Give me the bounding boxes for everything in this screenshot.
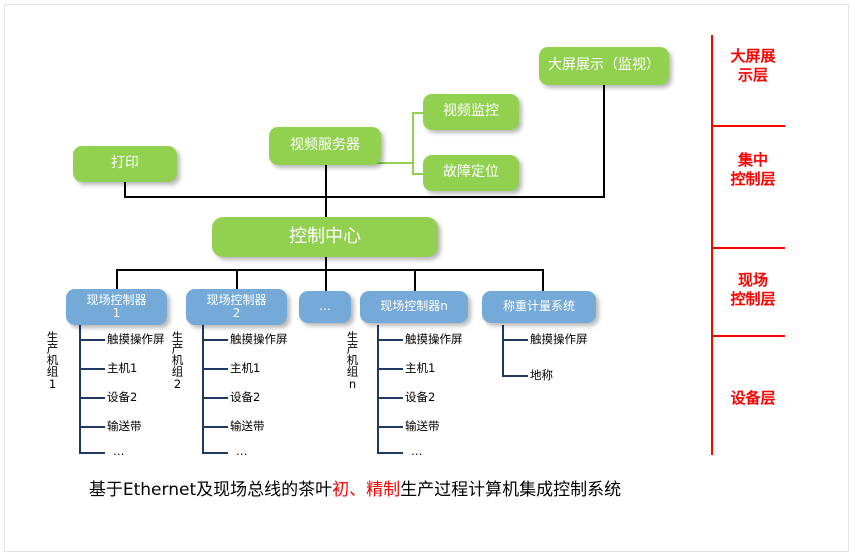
group-2-item-1: 主机1 — [230, 363, 260, 375]
group-n-item-0: 触摸操作屏 — [405, 334, 463, 346]
group-2-item-4: … — [236, 446, 248, 458]
layer-label-central-control: 集中 控制层 — [717, 151, 789, 189]
layer-label-field-control-line2: 控制层 — [717, 290, 789, 309]
group-2-item-0: 触摸操作屏 — [230, 334, 288, 346]
connector-drop-controller-n — [414, 269, 416, 291]
group-n-vertical-label: 生产机组n — [346, 331, 358, 437]
layer-divider-3 — [711, 335, 785, 337]
group-n-branch-4 — [377, 452, 403, 454]
diagram-caption: 基于Ethernet及现场总线的茶叶初、精制生产过程计算机集成控制系统 — [5, 475, 705, 500]
group-weighing-trunk — [502, 325, 504, 377]
group-weighing-branch-1 — [502, 375, 528, 377]
group-n-branch-2 — [377, 397, 403, 399]
group-2-trunk — [202, 325, 204, 453]
group-1-branch-4 — [79, 452, 105, 454]
group-1-trunk — [79, 325, 81, 453]
connector-level2-bus — [124, 196, 605, 198]
connector-drop-controller-1 — [116, 269, 118, 291]
connector-drop-controller-2 — [236, 269, 238, 291]
group-n-branch-0 — [377, 339, 403, 341]
connector-bigscreen-down — [603, 85, 605, 198]
layer-rail-4 — [711, 335, 713, 455]
group-2-item-3: 输送带 — [230, 421, 265, 433]
group-1-branch-2 — [79, 397, 105, 399]
layer-rail-1 — [711, 35, 713, 125]
connector-bus-to-controlcenter — [325, 196, 327, 218]
group-weighing-item-1: 地称 — [530, 370, 553, 382]
group-1-vertical-label: 生产机组1 — [46, 331, 58, 437]
group-n-branch-3 — [377, 426, 403, 428]
group-2-branch-1 — [202, 368, 228, 370]
group-n-trunk — [377, 325, 379, 453]
node-controller-2-label: 现场控制器 — [206, 294, 266, 307]
layer-label-field-control: 现场 控制层 — [717, 271, 789, 309]
layer-label-central-control-line1: 集中 — [717, 151, 789, 170]
node-big-screen-label: 大屏展示（监视） — [548, 58, 660, 74]
node-control-center[interactable]: 控制中心 — [212, 217, 438, 257]
node-weighing-system[interactable]: 称重计量系统 — [482, 291, 596, 323]
layer-divider-2 — [711, 247, 785, 249]
group-2-branch-3 — [202, 426, 228, 428]
node-fault-location[interactable]: 故障定位 — [423, 155, 519, 191]
node-video-server-label: 视频服务器 — [290, 138, 360, 154]
node-fault-location-label: 故障定位 — [443, 165, 499, 181]
node-controller-1-label: 现场控制器 — [86, 294, 146, 307]
layer-rail-3 — [711, 247, 713, 335]
node-controller-ellipsis[interactable]: … — [299, 291, 351, 323]
connector-drop-controller-3 — [325, 269, 327, 291]
node-controller-ellipsis-label: … — [319, 300, 331, 313]
caption-highlight: 初、精制 — [332, 480, 400, 500]
connector-videoserver-down — [325, 165, 327, 198]
node-print[interactable]: 打印 — [73, 146, 177, 182]
group-2-branch-4 — [202, 452, 228, 454]
group-1-item-4: … — [113, 446, 125, 458]
layer-label-display: 大屏展 示层 — [717, 47, 789, 85]
group-weighing-branch-0 — [502, 339, 528, 341]
group-1-item-1: 主机1 — [107, 363, 137, 375]
layer-label-device-line1: 设备层 — [717, 389, 789, 408]
node-video-server[interactable]: 视频服务器 — [269, 127, 381, 165]
node-controller-1-index: 1 — [113, 307, 121, 320]
node-video-monitor[interactable]: 视频监控 — [423, 94, 519, 130]
node-big-screen[interactable]: 大屏展示（监视） — [539, 47, 669, 85]
layer-rail-2 — [711, 125, 713, 247]
group-2-branch-2 — [202, 397, 228, 399]
node-controller-2[interactable]: 现场控制器 2 — [186, 289, 287, 325]
caption-part-1: 基于Ethernet及现场总线的茶叶 — [89, 480, 332, 500]
node-controller-n-label: 现场控制器n — [380, 300, 448, 313]
node-controller-2-index: 2 — [233, 307, 241, 320]
node-controller-n[interactable]: 现场控制器n — [360, 291, 468, 323]
diagram-canvas: 大屏展示（监视） 视频服务器 视频监控 故障定位 打印 控制中心 现场控制器 1… — [4, 4, 849, 552]
group-2-item-2: 设备2 — [230, 392, 260, 404]
group-n-item-4: … — [411, 446, 423, 458]
group-n-item-3: 输送带 — [405, 421, 440, 433]
node-print-label: 打印 — [111, 156, 139, 172]
node-video-monitor-label: 视频监控 — [443, 104, 499, 120]
connector-controller-bus — [116, 269, 543, 271]
group-2-vertical-label: 生产机组2 — [171, 331, 183, 437]
layer-label-central-control-line2: 控制层 — [717, 170, 789, 189]
layer-label-display-line1: 大屏展 — [717, 47, 789, 66]
caption-part-2: 生产过程计算机集成控制系统 — [400, 480, 621, 500]
connector-video-branch-vertical — [412, 113, 414, 175]
node-control-center-label: 控制中心 — [289, 227, 361, 247]
node-weighing-system-label: 称重计量系统 — [503, 300, 575, 313]
group-2-branch-0 — [202, 339, 228, 341]
group-weighing-item-0: 触摸操作屏 — [530, 334, 588, 346]
connector-drop-weighing — [542, 269, 544, 291]
group-n-item-2: 设备2 — [405, 392, 435, 404]
group-1-item-2: 设备2 — [107, 392, 137, 404]
group-1-item-3: 输送带 — [107, 421, 142, 433]
connector-print-down — [124, 180, 126, 198]
group-n-branch-1 — [377, 368, 403, 370]
group-1-branch-1 — [79, 368, 105, 370]
group-1-item-0: 触摸操作屏 — [107, 334, 165, 346]
layer-label-display-line2: 示层 — [717, 66, 789, 85]
node-controller-1[interactable]: 现场控制器 1 — [66, 289, 167, 325]
group-n-item-1: 主机1 — [405, 363, 435, 375]
group-1-branch-0 — [79, 339, 105, 341]
layer-divider-1 — [711, 125, 785, 127]
layer-label-field-control-line1: 现场 — [717, 271, 789, 290]
group-1-branch-3 — [79, 426, 105, 428]
layer-label-device: 设备层 — [717, 389, 789, 408]
